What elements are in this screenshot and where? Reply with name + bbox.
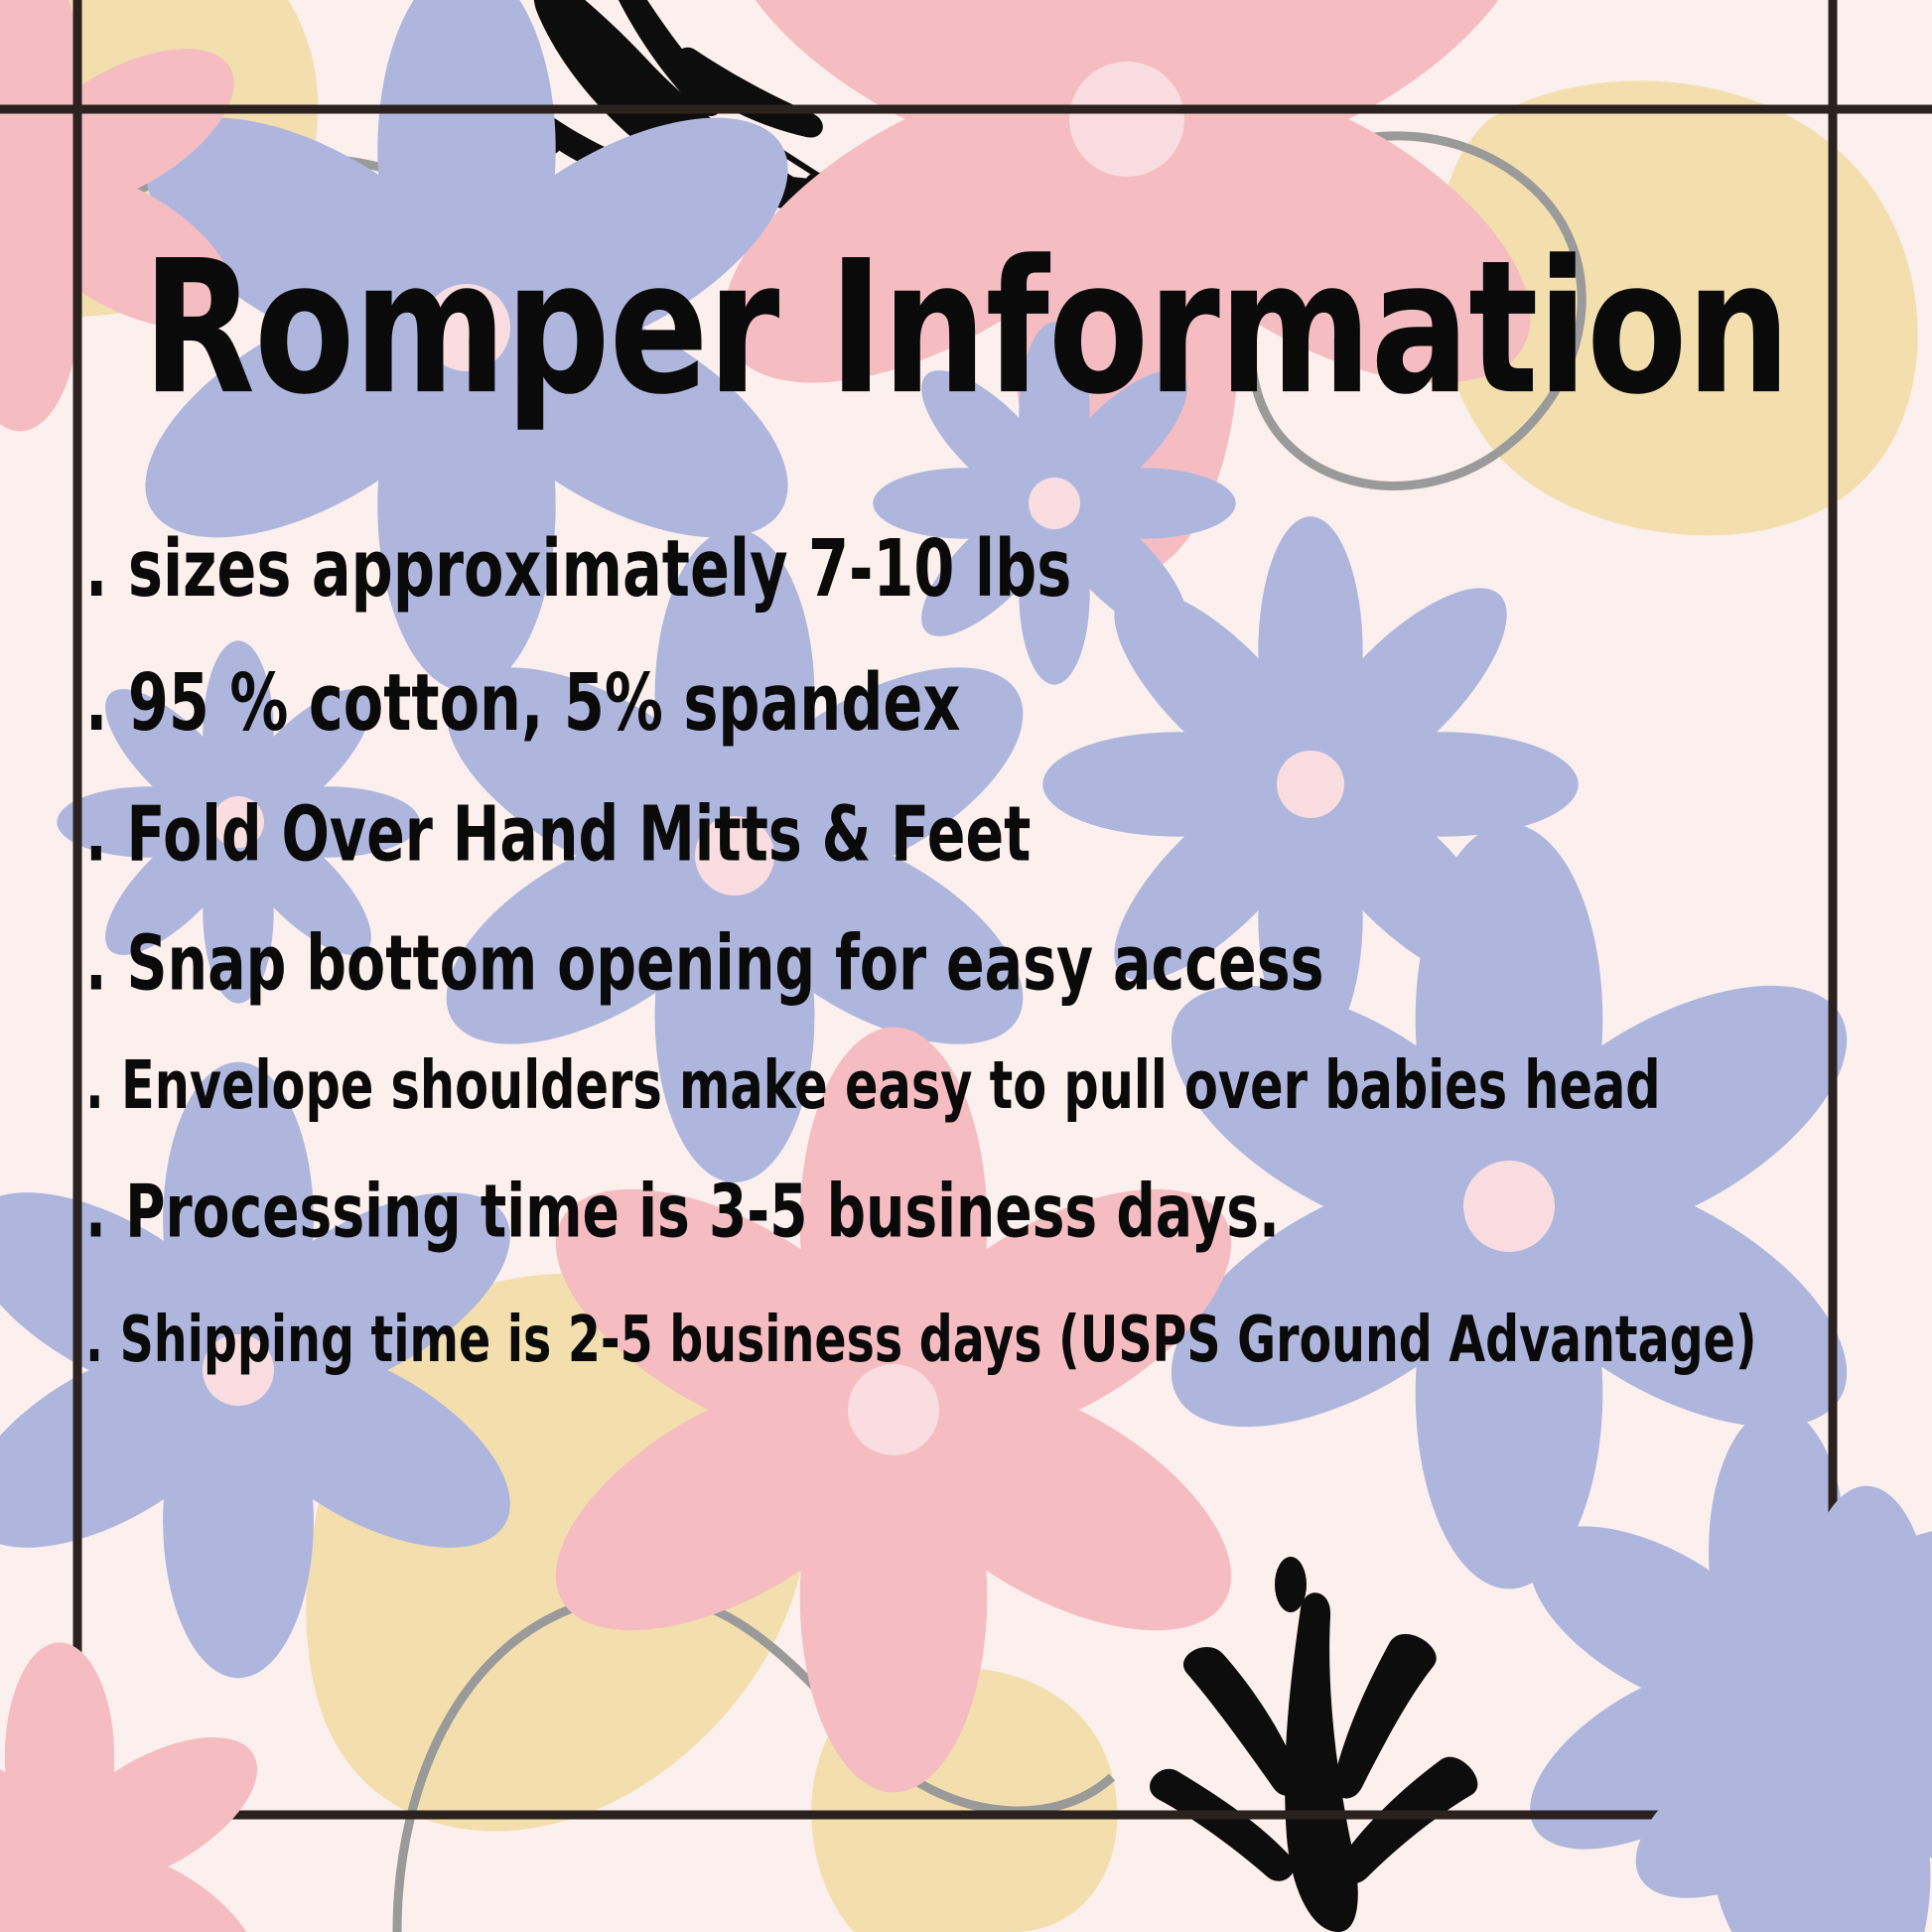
flower-blue-overlap-rightframe — [1608, 1486, 1932, 1932]
flower-pink-overlap-bottomleft — [0, 1642, 281, 1932]
poster-canvas: Romper Information . sizes approximately… — [0, 0, 1932, 1932]
decor-foreground — [0, 0, 1932, 1932]
